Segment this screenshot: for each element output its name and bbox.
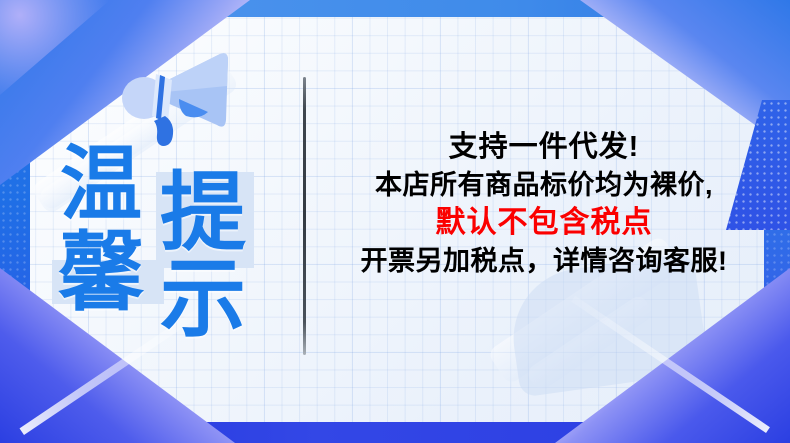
headline-char-xin: 馨 — [58, 230, 144, 316]
message-line-3-alert: 默认不包含税点 — [318, 203, 770, 243]
message-line-2: 本店所有商品标价均为裸价, — [318, 167, 770, 203]
message-column: 支持一件代发! 本店所有商品标价均为裸价, 默认不包含税点 开票另加税点，详情咨… — [318, 128, 770, 279]
headline-char-ti: 提 — [160, 170, 246, 256]
message-line-1: 支持一件代发! — [318, 128, 770, 167]
vertical-divider — [303, 77, 306, 355]
headline-block: 温 提 馨 示 — [52, 138, 284, 348]
headline-char-shi: 示 — [160, 256, 246, 342]
tips-banner: 温 提 馨 示 支持一件代发! 本店所有商品标价均为裸价, 默认不包含税点 开票… — [0, 0, 790, 443]
headline-char-wen: 温 — [60, 144, 142, 226]
megaphone-icon — [116, 42, 240, 150]
message-line-4: 开票另加税点，详情咨询客服! — [318, 243, 770, 279]
